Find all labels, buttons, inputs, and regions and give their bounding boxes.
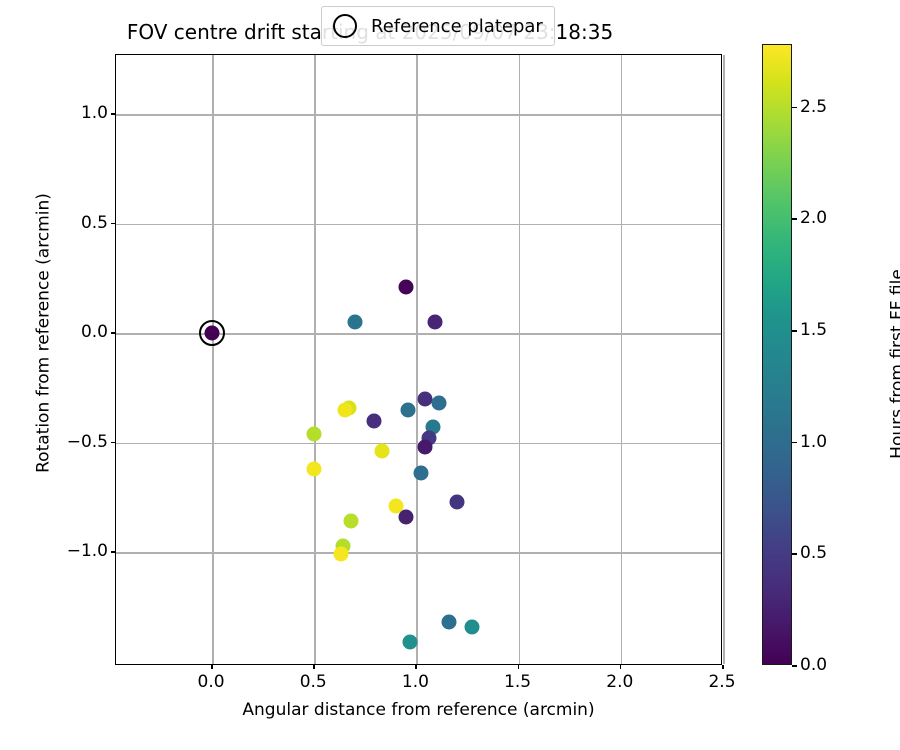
x-tick-label: 1.0 <box>402 672 429 692</box>
y-tick-label: 1.0 <box>81 103 115 123</box>
x-tick-mark <box>415 665 417 669</box>
x-axis-label: Angular distance from reference (arcmin) <box>115 700 722 720</box>
gridline-horizontal <box>116 552 721 554</box>
y-tick-label: 0.5 <box>81 213 115 233</box>
x-tick-mark <box>313 665 315 669</box>
colorbar-tick-mark <box>792 107 797 109</box>
scatter-point <box>450 494 465 509</box>
scatter-point <box>442 615 457 630</box>
scatter-point <box>403 634 418 649</box>
y-tick-label: −1.0 <box>67 541 115 561</box>
reference-platepar-point <box>199 320 225 346</box>
scatter-point <box>399 510 414 525</box>
scatter-point <box>366 413 381 428</box>
scatter-point <box>417 391 432 406</box>
scatter-point <box>399 280 414 295</box>
scatter-point <box>307 426 322 441</box>
colorbar <box>762 44 792 665</box>
x-tick-label: 0.0 <box>198 672 225 692</box>
scatter-point <box>401 402 416 417</box>
x-tick-mark <box>518 665 520 669</box>
colorbar-tick-label: 2.0 <box>800 208 827 228</box>
scatter-point <box>417 440 432 455</box>
colorbar-tick-label: 1.5 <box>800 320 827 340</box>
x-tick-label: 1.5 <box>504 672 531 692</box>
scatter-point <box>427 315 442 330</box>
colorbar-label: Hours from first FF file <box>888 54 900 675</box>
gridline-horizontal <box>116 114 721 116</box>
scatter-point <box>337 402 352 417</box>
plot-axes <box>115 54 722 665</box>
x-tick-mark <box>211 665 213 669</box>
colorbar-tick-mark <box>792 330 797 332</box>
scatter-point <box>333 547 348 562</box>
colorbar-tick-mark <box>792 553 797 555</box>
x-tick-label: 2.5 <box>708 672 735 692</box>
colorbar-tick-label: 0.5 <box>800 543 827 563</box>
x-tick-label: 0.5 <box>300 672 327 692</box>
y-axis-label: Rotation from reference (arcmin) <box>34 28 54 639</box>
gridline-vertical <box>621 55 623 664</box>
matplotlib-figure: FOV centre drift starting at 2025/09/07 … <box>0 0 900 750</box>
scatter-point <box>464 619 479 634</box>
x-tick-mark <box>620 665 622 669</box>
scatter-point <box>307 461 322 476</box>
gridline-horizontal <box>116 224 721 226</box>
gridline-vertical <box>723 55 725 664</box>
y-tick-label: −0.5 <box>67 432 115 452</box>
colorbar-tick-label: 2.5 <box>800 97 827 117</box>
gridline-vertical <box>212 55 214 664</box>
gridline-vertical <box>519 55 521 664</box>
colorbar-tick-mark <box>792 665 797 667</box>
x-tick-label: 2.0 <box>606 672 633 692</box>
gridline-vertical <box>416 55 418 664</box>
x-tick-mark <box>722 665 724 669</box>
scatter-point <box>413 466 428 481</box>
colorbar-tick-label: 0.0 <box>800 655 827 675</box>
y-tick-label: 0.0 <box>81 322 115 342</box>
colorbar-tick-mark <box>792 218 797 220</box>
scatter-point <box>348 315 363 330</box>
gridline-vertical <box>314 55 316 664</box>
scatter-point <box>374 444 389 459</box>
scatter-point <box>431 396 446 411</box>
reference-platepar-marker-icon <box>333 14 357 38</box>
scatter-point <box>344 514 359 529</box>
colorbar-tick-mark <box>792 442 797 444</box>
legend: Reference platepar <box>321 6 555 46</box>
colorbar-tick-label: 1.0 <box>800 432 827 452</box>
legend-entry-label: Reference platepar <box>371 16 543 37</box>
